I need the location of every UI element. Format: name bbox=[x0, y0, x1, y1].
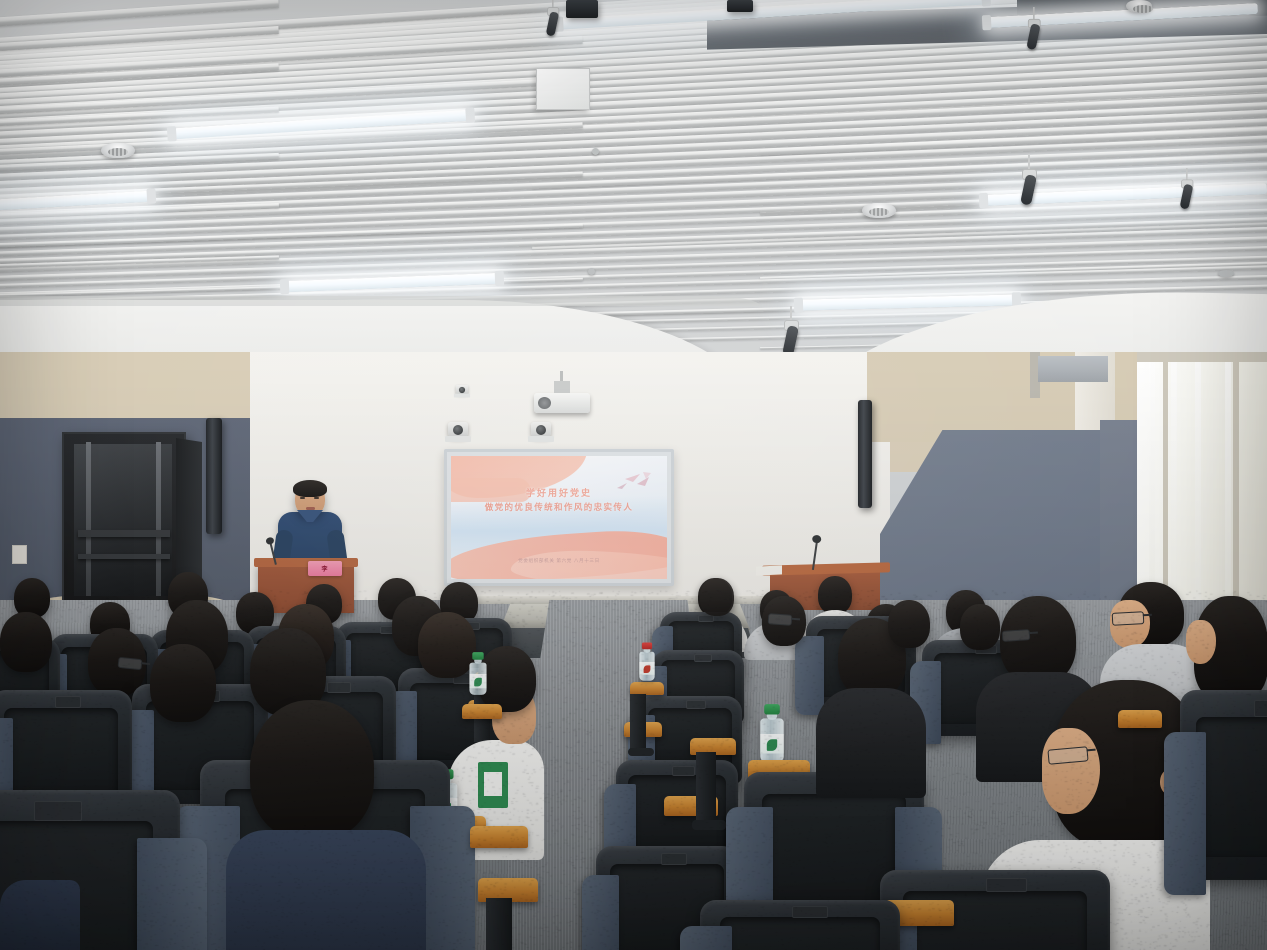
water-bottle-icon bbox=[639, 643, 654, 680]
wall-outlet-plate bbox=[12, 545, 27, 564]
seat-armrest bbox=[462, 704, 502, 719]
tshirt-graphic-inner bbox=[484, 772, 502, 796]
smoke-detector-icon bbox=[1126, 0, 1152, 12]
ptz-camera-icon bbox=[456, 385, 468, 395]
projection-screen: 学好用好党史 做党的优良传统和作风的忠实传人 党委组织部机关 第六党 八月十三日 bbox=[444, 449, 674, 586]
water-bottle-icon bbox=[469, 653, 486, 695]
sheer-curtain bbox=[1195, 352, 1201, 622]
audience-shoulders bbox=[0, 880, 80, 950]
audience-head bbox=[818, 576, 852, 614]
name-plate: 李 bbox=[308, 561, 342, 576]
audience-head bbox=[888, 600, 930, 648]
server-rack-icon bbox=[62, 432, 186, 606]
audience-head bbox=[250, 700, 374, 840]
smoke-detector-icon bbox=[101, 143, 135, 158]
window-blind-box bbox=[1038, 356, 1108, 382]
audience-head bbox=[418, 612, 476, 678]
window-header bbox=[1137, 352, 1267, 362]
sheer-curtain bbox=[1171, 352, 1177, 622]
eyeglasses-icon bbox=[1002, 629, 1031, 642]
ceiling-soffit-edge bbox=[0, 296, 760, 306]
eyeglasses-icon bbox=[1112, 611, 1145, 626]
seat-armrest bbox=[470, 826, 528, 848]
seat-support-post bbox=[630, 694, 646, 750]
sprinkler-icon bbox=[1218, 270, 1234, 277]
seat-armrest bbox=[1118, 710, 1162, 728]
ceiling-service-box bbox=[536, 68, 590, 110]
audience-head bbox=[478, 646, 536, 712]
window-mullion bbox=[1163, 352, 1168, 622]
ceiling-speaker-icon bbox=[727, 0, 753, 12]
audience-shoulders bbox=[816, 688, 926, 798]
loudspeaker-icon bbox=[858, 400, 872, 508]
seat-foot bbox=[628, 748, 654, 756]
wall-left-beige bbox=[0, 352, 250, 422]
window-mullion bbox=[1233, 352, 1239, 622]
loudspeaker-icon bbox=[206, 418, 222, 534]
slide-title: 学好用好党史 bbox=[451, 486, 667, 499]
name-plate-text: 李 bbox=[321, 564, 328, 573]
slide-surface: 学好用好党史 做党的优良传统和作风的忠实传人 党委组织部机关 第六党 八月十三日 bbox=[451, 456, 667, 579]
seat-support-post bbox=[486, 898, 512, 950]
slide-subtitle: 做党的优良传统和作风的忠实传人 bbox=[451, 501, 667, 513]
sprinkler-icon bbox=[588, 268, 595, 275]
slide-footer: 党委组织部机关 第六党 八月十三日 bbox=[451, 557, 667, 565]
audience-shoulders bbox=[226, 830, 426, 950]
auditorium-seat[interactable] bbox=[700, 900, 900, 950]
water-bottle-icon bbox=[760, 705, 783, 762]
sheer-curtain bbox=[1225, 352, 1231, 622]
audience-head bbox=[150, 644, 216, 722]
audience-face bbox=[1186, 620, 1216, 664]
eyeglasses-icon bbox=[117, 657, 142, 670]
audience-head bbox=[0, 612, 52, 672]
smoke-detector-icon bbox=[862, 203, 896, 218]
lecture-hall-photo: 学好用好党史 做党的优良传统和作风的忠实传人 党委组织部机关 第六党 八月十三日… bbox=[0, 0, 1267, 950]
audience-head bbox=[960, 604, 1000, 650]
sprinkler-icon bbox=[592, 148, 599, 155]
ptz-camera-icon bbox=[448, 422, 468, 438]
seat-foot bbox=[692, 820, 726, 830]
seat-support-post bbox=[696, 752, 716, 824]
ptz-camera-icon bbox=[531, 422, 551, 438]
ceiling-speaker-icon bbox=[566, 0, 598, 18]
eyeglasses-icon bbox=[768, 613, 793, 626]
projector-icon bbox=[534, 393, 590, 413]
audience-head bbox=[700, 578, 734, 616]
auditorium-seat[interactable] bbox=[1180, 690, 1267, 880]
